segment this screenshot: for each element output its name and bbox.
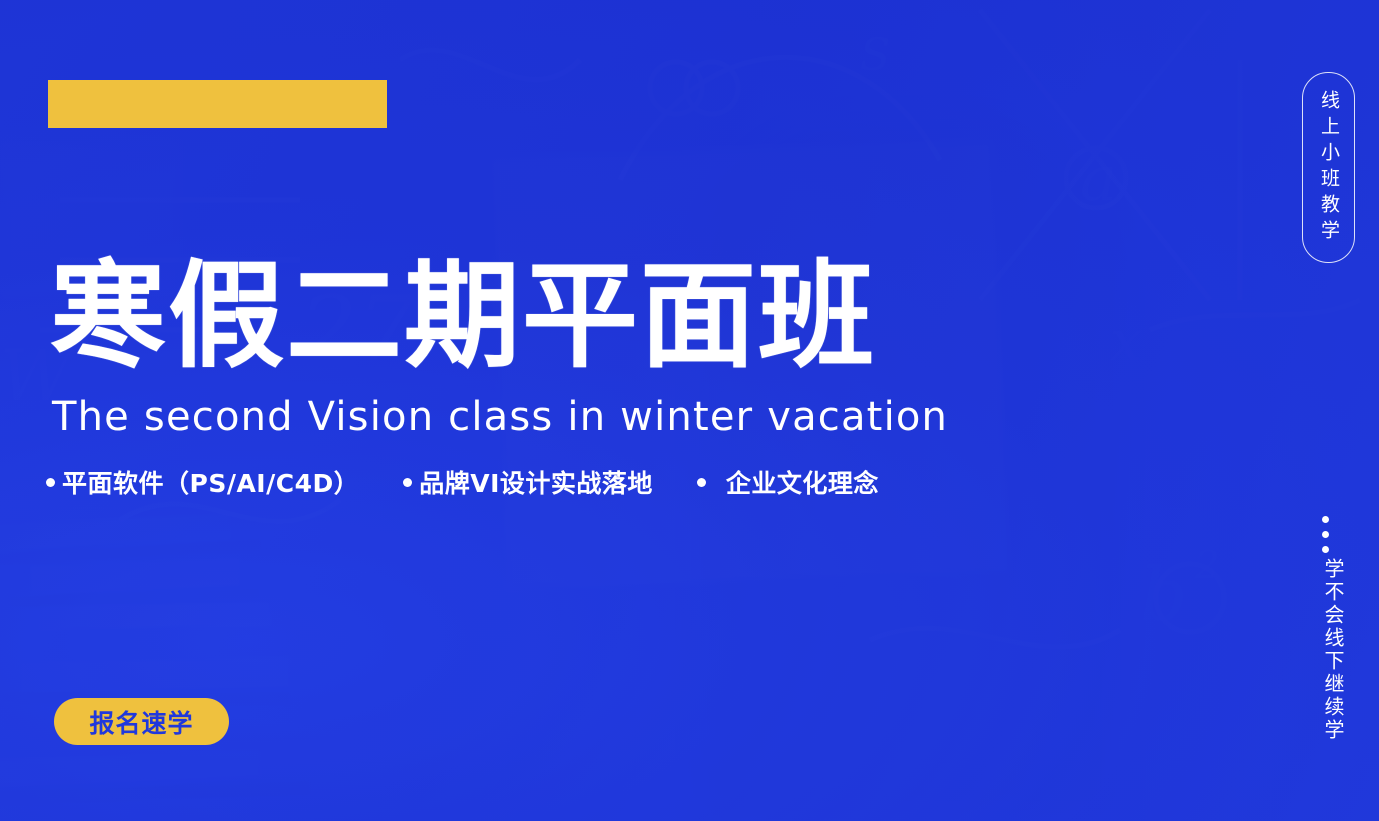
online-class-badge: 线上小班教学 xyxy=(1302,72,1355,263)
online-class-badge-label: 线上小班教学 xyxy=(1319,90,1338,246)
decorative-dots-icon xyxy=(1322,516,1329,561)
feature-label: 平面软件（PS/AI/C4D） xyxy=(62,464,359,500)
list-item: 企业文化理念 xyxy=(697,464,879,500)
poster-content: 寒假二期平面班 The second Vision class in winte… xyxy=(0,0,1379,821)
accent-bar xyxy=(48,80,387,128)
list-item: 平面软件（PS/AI/C4D） xyxy=(46,464,359,500)
enroll-button[interactable]: 报名速学 xyxy=(54,698,229,745)
page-subtitle: The second Vision class in winter vacati… xyxy=(52,392,948,442)
list-item: 品牌VI设计实战落地 xyxy=(403,464,653,500)
feature-list: 平面软件（PS/AI/C4D） 品牌VI设计实战落地 企业文化理念 xyxy=(46,464,879,500)
feature-label: 企业文化理念 xyxy=(726,464,879,500)
bullet-dot-icon xyxy=(46,478,55,487)
guarantee-slogan: 学不会线下继续学 xyxy=(1313,558,1343,742)
bullet-dot-icon xyxy=(403,478,412,487)
feature-label: 品牌VI设计实战落地 xyxy=(419,464,653,500)
page-title: 寒假二期平面班 xyxy=(50,258,876,376)
bullet-dot-icon xyxy=(697,478,706,487)
promo-poster: a b 2 x 27 W S 寒假二期平面班 The second Vision… xyxy=(0,0,1379,821)
